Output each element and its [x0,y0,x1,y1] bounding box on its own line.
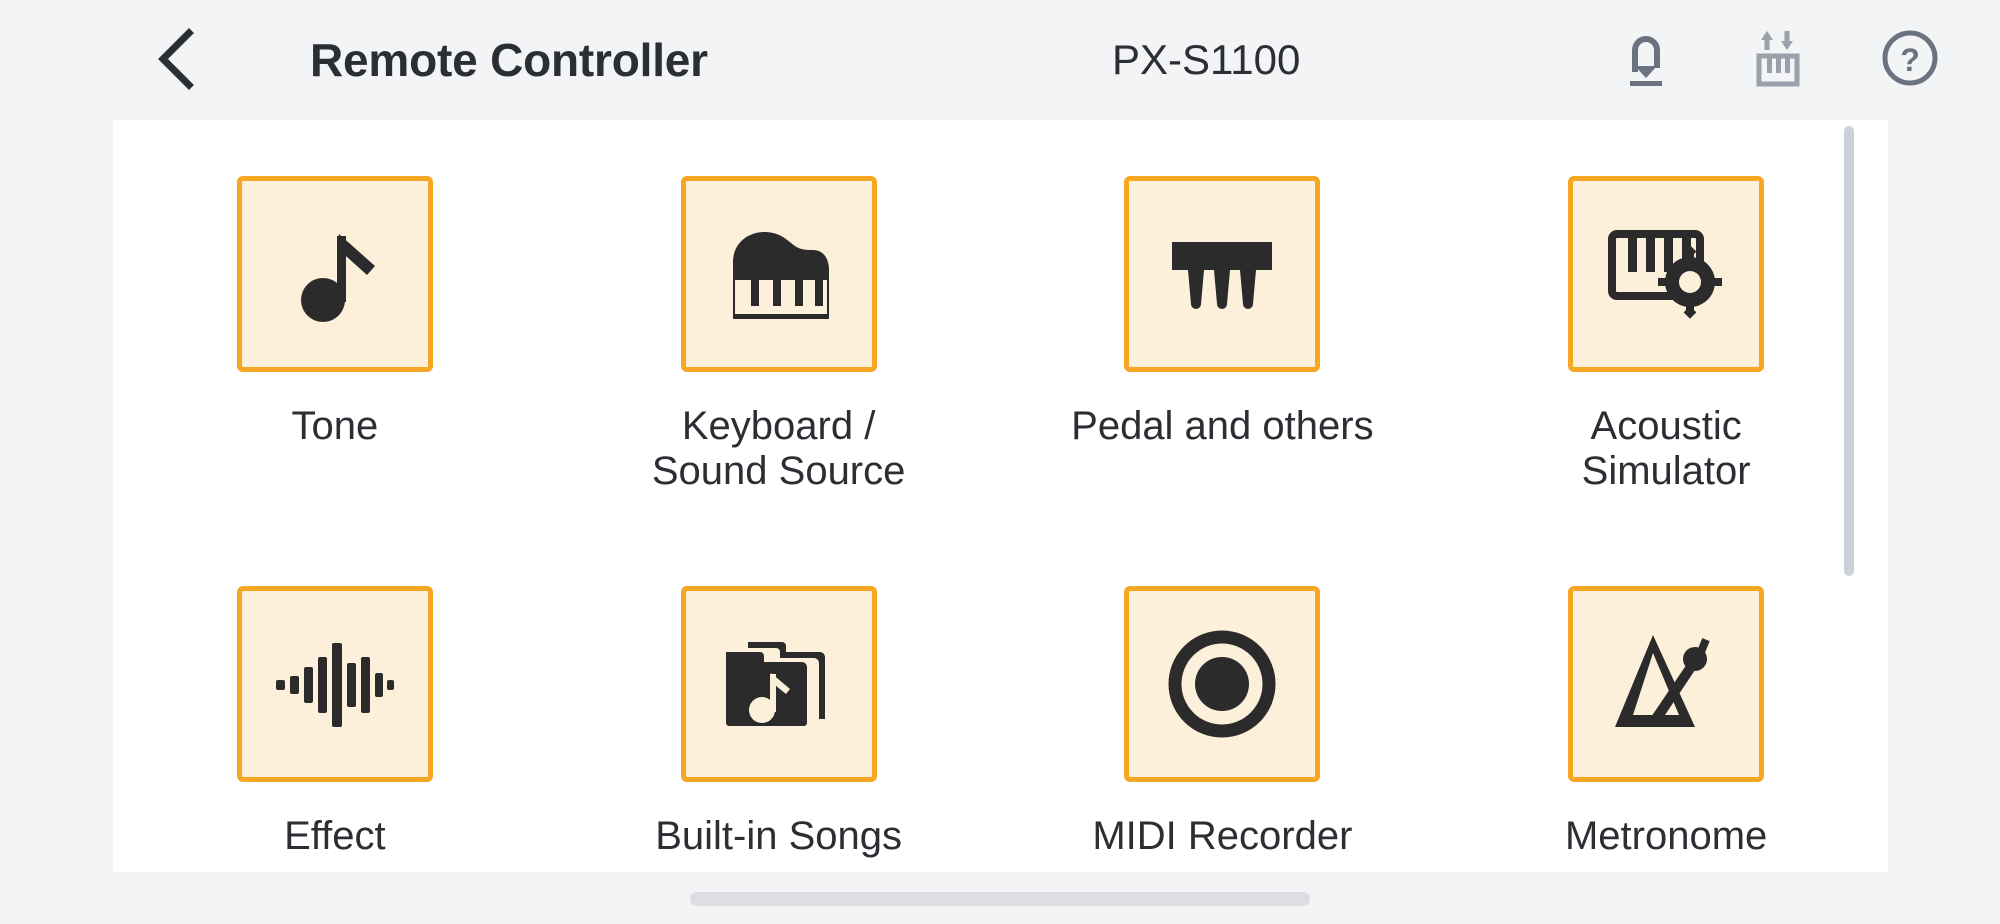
feature-grid-panel[interactable]: Tone [113,120,1888,872]
grid-item-label: Keyboard / Sound Source [652,404,906,494]
feature-grid: Tone [113,120,1888,872]
vertical-scrollbar[interactable] [1844,126,1854,866]
grid-item-built-in-songs[interactable]: Built-in Songs [557,586,1001,872]
grid-item-metronome[interactable]: Metronome [1444,586,1888,872]
grid-item-label: MIDI Recorder [1092,814,1352,859]
grid-item-effect[interactable]: Effect [113,586,557,872]
grid-item-tone[interactable]: Tone [113,176,557,586]
metronome-icon [1609,627,1723,741]
device-name: PX-S1100 [1112,36,1300,84]
back-button[interactable] [140,26,210,96]
tile-pedal-and-others[interactable] [1124,176,1320,372]
tile-keyboard-sound-source[interactable] [681,176,877,372]
grid-item-label: Acoustic Simulator [1501,404,1831,494]
svg-text:?: ? [1900,42,1920,78]
keyboard-sync-icon [1747,28,1809,93]
keyboard-sync-button[interactable] [1746,28,1810,92]
tile-metronome[interactable] [1568,586,1764,782]
save-to-device-button[interactable] [1614,28,1678,92]
record-circle-icon [1166,628,1278,740]
pedals-icon [1164,218,1280,330]
music-folders-icon [718,628,840,740]
grand-piano-icon [719,218,839,330]
grid-item-label: Effect [284,814,386,859]
music-note-icon [279,218,391,330]
keyboard-gear-icon [1604,216,1728,332]
tile-tone[interactable] [237,176,433,372]
help-icon: ? [1879,27,1941,94]
app-header: Remote Controller PX-S1100 [0,0,2000,120]
waveform-icon [274,629,396,739]
tile-acoustic-simulator[interactable] [1568,176,1764,372]
remote-controller-screen: Remote Controller PX-S1100 [0,0,2000,924]
tile-effect[interactable] [237,586,433,782]
grid-item-acoustic-simulator[interactable]: Acoustic Simulator [1444,176,1888,586]
grid-item-midi-recorder[interactable]: MIDI Recorder [1001,586,1445,872]
grid-item-label: Built-in Songs [655,814,902,859]
grid-item-keyboard-sound-source[interactable]: Keyboard / Sound Source [557,176,1001,586]
tile-built-in-songs[interactable] [681,586,877,782]
home-indicator [690,892,1310,906]
header-actions: ? [1614,28,1942,92]
vertical-scrollbar-thumb[interactable] [1844,126,1854,576]
grid-item-label: Pedal and others [1071,404,1373,449]
grid-item-label: Tone [292,404,379,449]
grid-item-pedal-and-others[interactable]: Pedal and others [1001,176,1445,586]
grid-item-label: Metronome [1565,814,1767,859]
help-button[interactable]: ? [1878,28,1942,92]
chevron-left-icon [153,28,197,95]
page-title: Remote Controller [310,33,708,87]
tile-midi-recorder[interactable] [1124,586,1320,782]
save-to-device-icon [1616,28,1676,93]
